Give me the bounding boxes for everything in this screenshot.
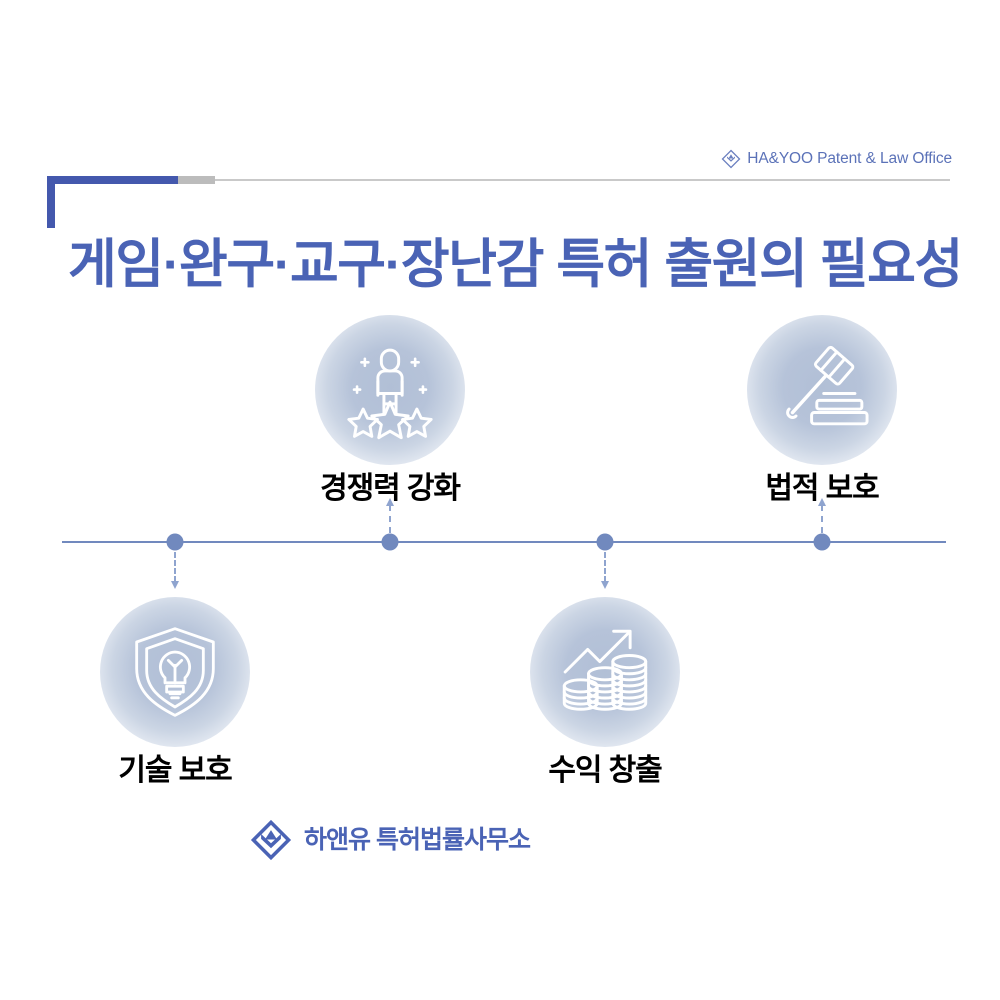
shield-lightbulb-icon <box>100 597 250 747</box>
rule-thin-line <box>215 179 950 181</box>
header-brand-name: HA&YOO Patent & Law Office <box>747 151 952 167</box>
timeline-connector-4 <box>821 505 823 533</box>
timeline-connector-3 <box>604 552 606 582</box>
person-stars-icon <box>315 315 465 465</box>
timeline-item-tech-protection[interactable]: 기술 보호 <box>45 597 305 789</box>
hayoo-diamond-logo-icon <box>721 149 741 169</box>
rule-vertical-segment <box>47 176 55 228</box>
page-title: 게임·완구·교구·장난감 특허 출원의 필요성 <box>68 234 968 295</box>
timeline-item-legal-protection[interactable]: 법적 보호 <box>692 315 952 507</box>
header-rule <box>47 176 953 184</box>
timeline-item-label: 경쟁력 강화 <box>260 471 520 507</box>
hayoo-diamond-logo-icon <box>249 818 293 862</box>
timeline-node-3 <box>597 534 614 551</box>
timeline-item-label: 수익 창출 <box>475 753 735 789</box>
arrow-down-icon <box>601 581 609 589</box>
timeline-connector-1 <box>174 552 176 582</box>
timeline-node-1 <box>167 534 184 551</box>
timeline-item-competitiveness[interactable]: 경쟁력 강화 <box>260 315 520 507</box>
timeline-item-label: 법적 보호 <box>692 471 952 507</box>
timeline-node-2 <box>382 534 399 551</box>
timeline-item-label: 기술 보호 <box>45 753 305 789</box>
rule-blue-segment <box>47 176 178 184</box>
gavel-icon <box>747 315 897 465</box>
footer-brand: 하앤유 특허법률사무소 <box>249 818 530 862</box>
slide-canvas: HA&YOO Patent & Law Office 게임·완구·교구·장난감 … <box>0 0 1000 1000</box>
header-brand: HA&YOO Patent & Law Office <box>721 148 952 170</box>
timeline-node-4 <box>814 534 831 551</box>
rule-gray-segment <box>178 176 215 184</box>
timeline-connector-2 <box>389 505 391 533</box>
coins-growth-arrow-icon <box>530 597 680 747</box>
arrow-down-icon <box>171 581 179 589</box>
footer-brand-name: 하앤유 특허법률사무소 <box>304 828 530 853</box>
timeline-item-revenue-generation[interactable]: 수익 창출 <box>475 597 735 789</box>
